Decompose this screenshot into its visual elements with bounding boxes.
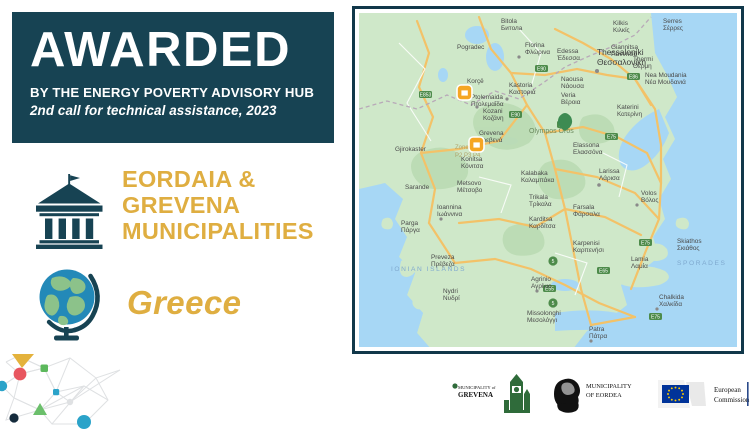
svg-text:Pogradec: Pogradec [457,44,485,51]
svg-text:5: 5 [552,259,555,265]
svg-text:MUNICIPALITY of: MUNICIPALITY of [458,385,496,390]
svg-text:Karpenisi: Karpenisi [573,240,600,247]
svg-text:Agrinio: Agrinio [531,276,551,283]
svg-text:Elassona: Elassona [573,142,600,149]
svg-text:Νάουσα: Νάουσα [561,82,584,90]
poster-root: AWARDED BY THE ENERGY POVERTY ADVISORY H… [0,0,750,430]
country-name: Greece [127,284,241,322]
svg-text:IONIAN ISLANDS: IONIAN ISLANDS [391,266,466,273]
svg-text:Patra: Patra [589,326,605,333]
svg-text:Μέτσοβο: Μέτσοβο [457,186,483,194]
svg-text:Κιλκίς: Κιλκίς [613,26,630,34]
svg-text:Τρίκαλα: Τρίκαλα [529,200,552,208]
country-row: Greece [22,262,342,348]
municipality-name-line2: GREVENA [122,192,368,218]
svg-text:Μεσολόγγι: Μεσολόγγι [527,316,558,324]
svg-text:Trikala: Trikala [529,194,548,201]
svg-text:Λάρισα: Λάρισα [599,174,620,182]
svg-text:MUNICIPALITY: MUNICIPALITY [586,383,632,390]
svg-text:Καλαμπάκα: Καλαμπάκα [521,176,554,184]
svg-text:Florina: Florina [525,42,545,49]
map-viewport[interactable]: E90 E86 E65 E75 E853 E75 E65 E75 E55 5 5… [359,13,737,347]
svg-text:Kilkis: Kilkis [613,20,628,27]
left-column: AWARDED BY THE ENERGY POVERTY ADVISORY H… [0,0,345,430]
svg-text:E75: E75 [651,315,660,321]
svg-text:Βέροια: Βέροια [561,98,581,106]
svg-text:Ioannina: Ioannina [437,204,462,211]
town-hall-icon [30,172,110,250]
svg-text:Skiathos: Skiathos [677,238,702,245]
svg-text:Karditsa: Karditsa [529,216,553,223]
footer-logos: MUNICIPALITY of GREVENA MUNICIPALITY OF … [440,368,750,424]
svg-text:Πάργα: Πάργα [401,226,420,234]
svg-text:Битола: Битола [501,25,523,32]
svg-text:Καρπενήσι: Καρπενήσι [573,247,604,254]
svg-text:Σέρρες: Σέρρες [663,24,683,32]
banner-subtitle-organisation: BY THE ENERGY POVERTY ADVISORY HUB [30,85,316,100]
svg-text:Nea Moudania: Nea Moudania [645,72,687,79]
svg-text:Edessa: Edessa [557,48,579,55]
banner-subtitle-call: 2nd call for technical assistance, 2023 [30,103,316,118]
svg-text:Larissa: Larissa [599,168,620,175]
municipality-name-line3: MUNICIPALITIES [122,218,368,244]
globe-icon [32,264,110,344]
svg-text:Missolonghi: Missolonghi [527,310,561,317]
municipality-row: EORDAIA & GREVENA MUNICIPALITIES [22,168,342,254]
svg-text:Grevena: Grevena [479,130,504,137]
municipality-name: EORDAIA & GREVENA MUNICIPALITIES [122,166,368,244]
svg-text:Ptolemaida: Ptolemaida [471,94,503,101]
svg-text:Πάτρα: Πάτρα [589,332,607,340]
eordea-municipality-logo: MUNICIPALITY OF EORDEA [552,374,652,416]
svg-text:E90: E90 [511,113,520,119]
svg-text:Νυδρί: Νυδρί [443,294,460,302]
svg-text:Katerini: Katerini [617,104,639,111]
svg-text:Kalabaka: Kalabaka [521,170,548,177]
svg-text:Φλώρινα: Φλώρινα [525,48,550,56]
svg-text:E90: E90 [537,67,546,73]
svg-text:European: European [714,386,741,394]
svg-text:Naousa: Naousa [561,76,583,83]
network-decoration [0,352,132,430]
svg-text:E65: E65 [599,269,608,275]
svg-text:Κατερίνη: Κατερίνη [617,110,643,118]
svg-text:Βόλος: Βόλος [641,196,658,204]
svg-text:Farsala: Farsala [573,204,595,211]
svg-text:Chalkida: Chalkida [659,294,684,301]
svg-text:Θεσσαλονίκη: Θεσσαλονίκη [597,57,646,67]
page-title: AWARDED [30,24,316,76]
svg-text:Χαλκίδα: Χαλκίδα [659,300,682,308]
svg-text:E86: E86 [629,75,638,81]
svg-text:Parga: Parga [401,220,418,227]
svg-text:Lamia: Lamia [631,256,649,263]
svg-text:Commission: Commission [714,396,750,404]
svg-text:Φάρσαλα: Φάρσαλα [573,210,600,218]
map-marker-grevena [469,137,484,152]
grevena-municipality-logo: MUNICIPALITY of GREVENA [452,372,548,418]
map-marker-ptolemaida [457,85,472,100]
svg-text:Λαμία: Λαμία [631,262,648,270]
svg-text:SPORADES: SPORADES [677,260,726,267]
svg-text:Metsovo: Metsovo [457,180,482,187]
svg-text:Αγρίνιο: Αγρίνιο [531,282,552,290]
svg-text:Sarande: Sarande [405,184,430,191]
svg-text:Κοζάνη: Κοζάνη [483,114,504,122]
svg-text:Thessaloniki: Thessaloniki [597,47,644,57]
svg-text:Ιωάννινα: Ιωάννινα [437,210,462,218]
svg-text:Έδεσσα: Έδεσσα [556,55,580,62]
svg-text:Kastoria: Kastoria [509,82,533,89]
svg-text:E75: E75 [607,135,616,141]
svg-text:Gjirokaster: Gjirokaster [395,146,427,153]
svg-text:E75: E75 [641,241,650,247]
svg-text:Serres: Serres [663,18,682,25]
svg-text:Καρδίτσα: Καρδίτσα [529,222,556,230]
map-canvas[interactable]: E90 E86 E65 E75 E853 E75 E65 E75 E55 5 5… [359,13,737,347]
svg-text:Veria: Veria [561,92,576,99]
svg-text:Νέα Μουδανιά: Νέα Μουδανιά [645,78,686,86]
svg-text:Bitola: Bitola [501,18,517,25]
awarded-banner: AWARDED BY THE ENERGY POVERTY ADVISORY H… [12,12,334,143]
svg-text:Korçë: Korçë [467,78,484,85]
svg-text:Volos: Volos [641,190,657,197]
svg-text:Ελασσόνα: Ελασσόνα [573,148,603,156]
svg-text:Preveza: Preveza [431,254,455,261]
svg-text:5: 5 [552,301,555,307]
svg-text:Σκιάθος: Σκιάθος [677,244,699,252]
european-commission-logo: European Commission [658,374,750,416]
svg-text:Κόνιτσα: Κόνιτσα [461,162,484,170]
svg-text:Kozani: Kozani [483,108,503,115]
svg-text:OF EORDEA: OF EORDEA [586,392,622,399]
svg-text:GREVENA: GREVENA [458,391,493,399]
svg-text:Καστοριά: Καστοριά [509,88,536,96]
svg-text:Nydri: Nydri [443,288,458,295]
svg-text:E853: E853 [420,93,432,99]
map-panel[interactable]: E90 E86 E65 E75 E853 E75 E65 E75 E55 5 5… [352,6,744,354]
municipality-name-line1: EORDAIA & [122,166,368,192]
svg-text:P2 P3 P4: P2 P3 P4 [455,153,481,159]
